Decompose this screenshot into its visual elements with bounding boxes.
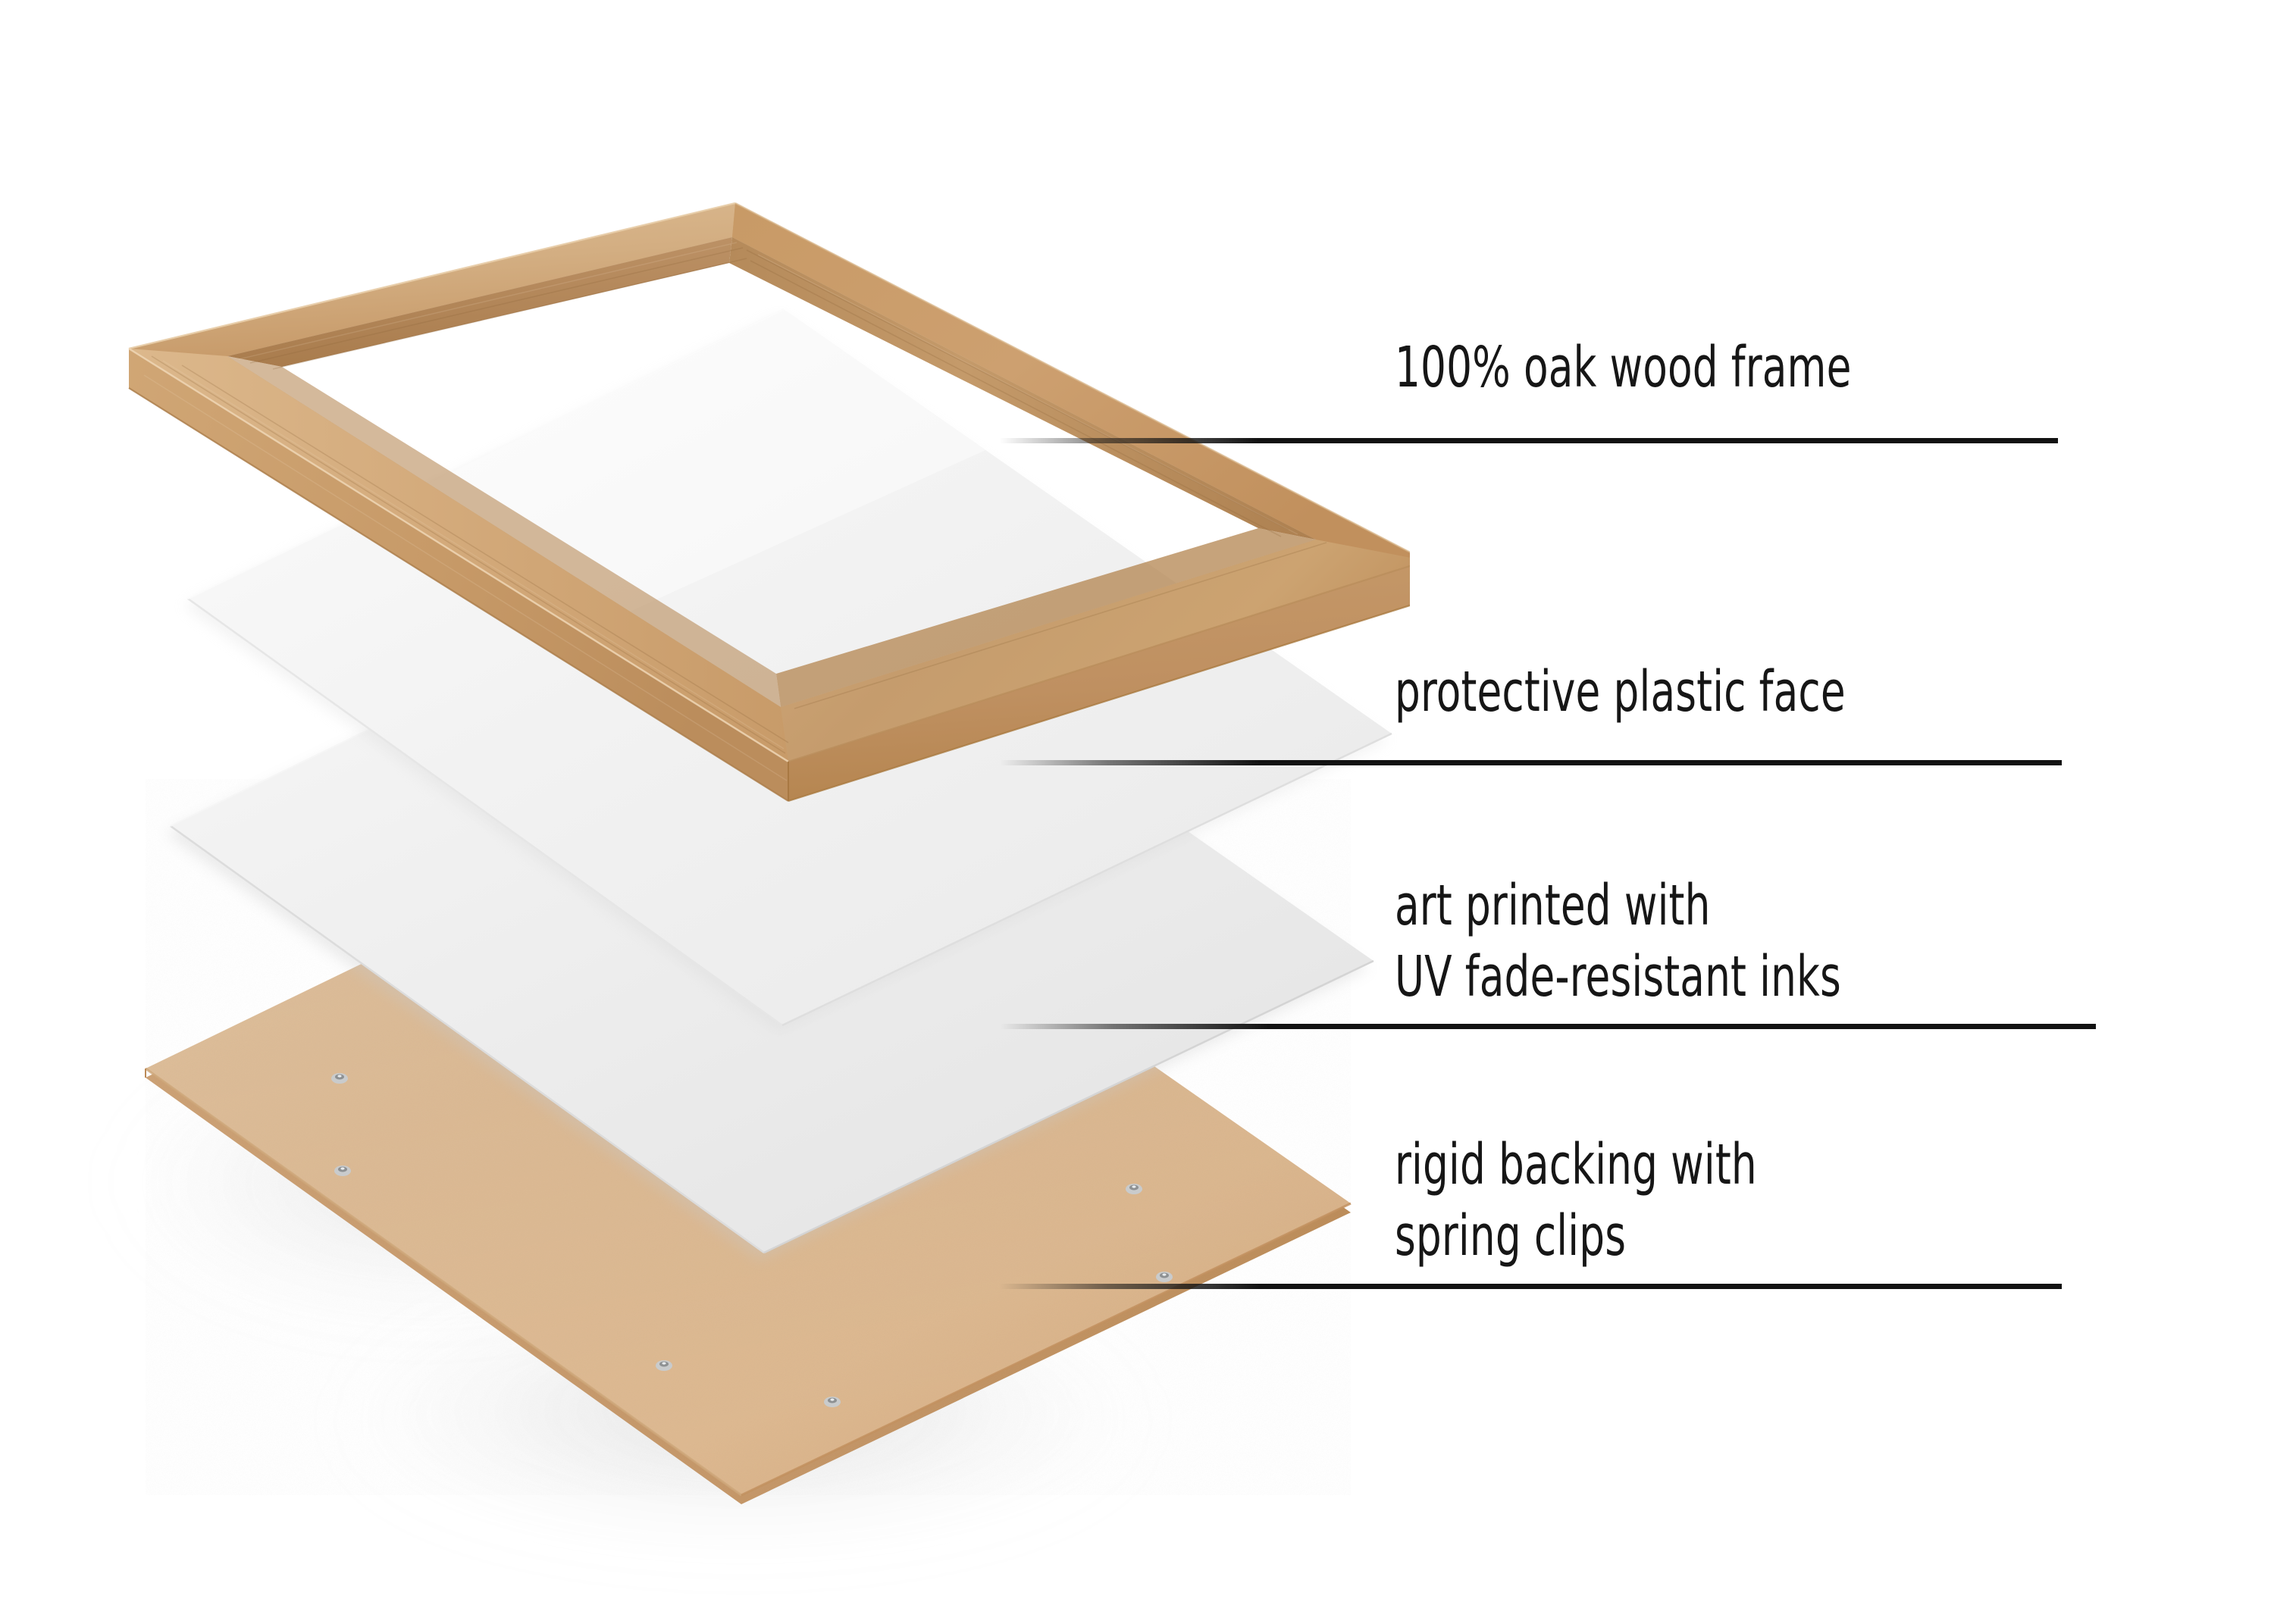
product-exploded-illustration [0,0,1410,1624]
callout-rigid-backing-line-1: rigid backing with [1395,1129,2244,1200]
callout-protective-plastic-face: protective plastic face [1395,656,2274,770]
exploded-frame-diagram: 100% oak wood frame protective plastic f… [0,0,2274,1624]
callout-uv-inks-line-1: art printed with [1395,870,2244,941]
callout-protective-plastic-face-label: protective plastic face [1395,656,2244,728]
callout-protective-plastic-face-leader [978,760,2062,765]
callout-rigid-backing-spring-clips-leader [978,1284,2062,1289]
callout-uv-fade-resistant-inks-leader [978,1024,2096,1029]
callout-rigid-backing-line-2: spring clips [1395,1200,2244,1272]
callout-uv-fade-resistant-inks: art printed with UV fade-resistant inks [1395,870,2274,1067]
callout-rigid-backing-spring-clips: rigid backing with spring clips [1395,1129,2274,1326]
callout-oak-wood-frame-leader [978,438,2058,443]
callout-oak-wood-frame: 100% oak wood frame [1395,332,2274,446]
callout-oak-wood-frame-label: 100% oak wood frame [1395,332,2244,403]
callout-uv-inks-line-2: UV fade-resistant inks [1395,941,2244,1012]
